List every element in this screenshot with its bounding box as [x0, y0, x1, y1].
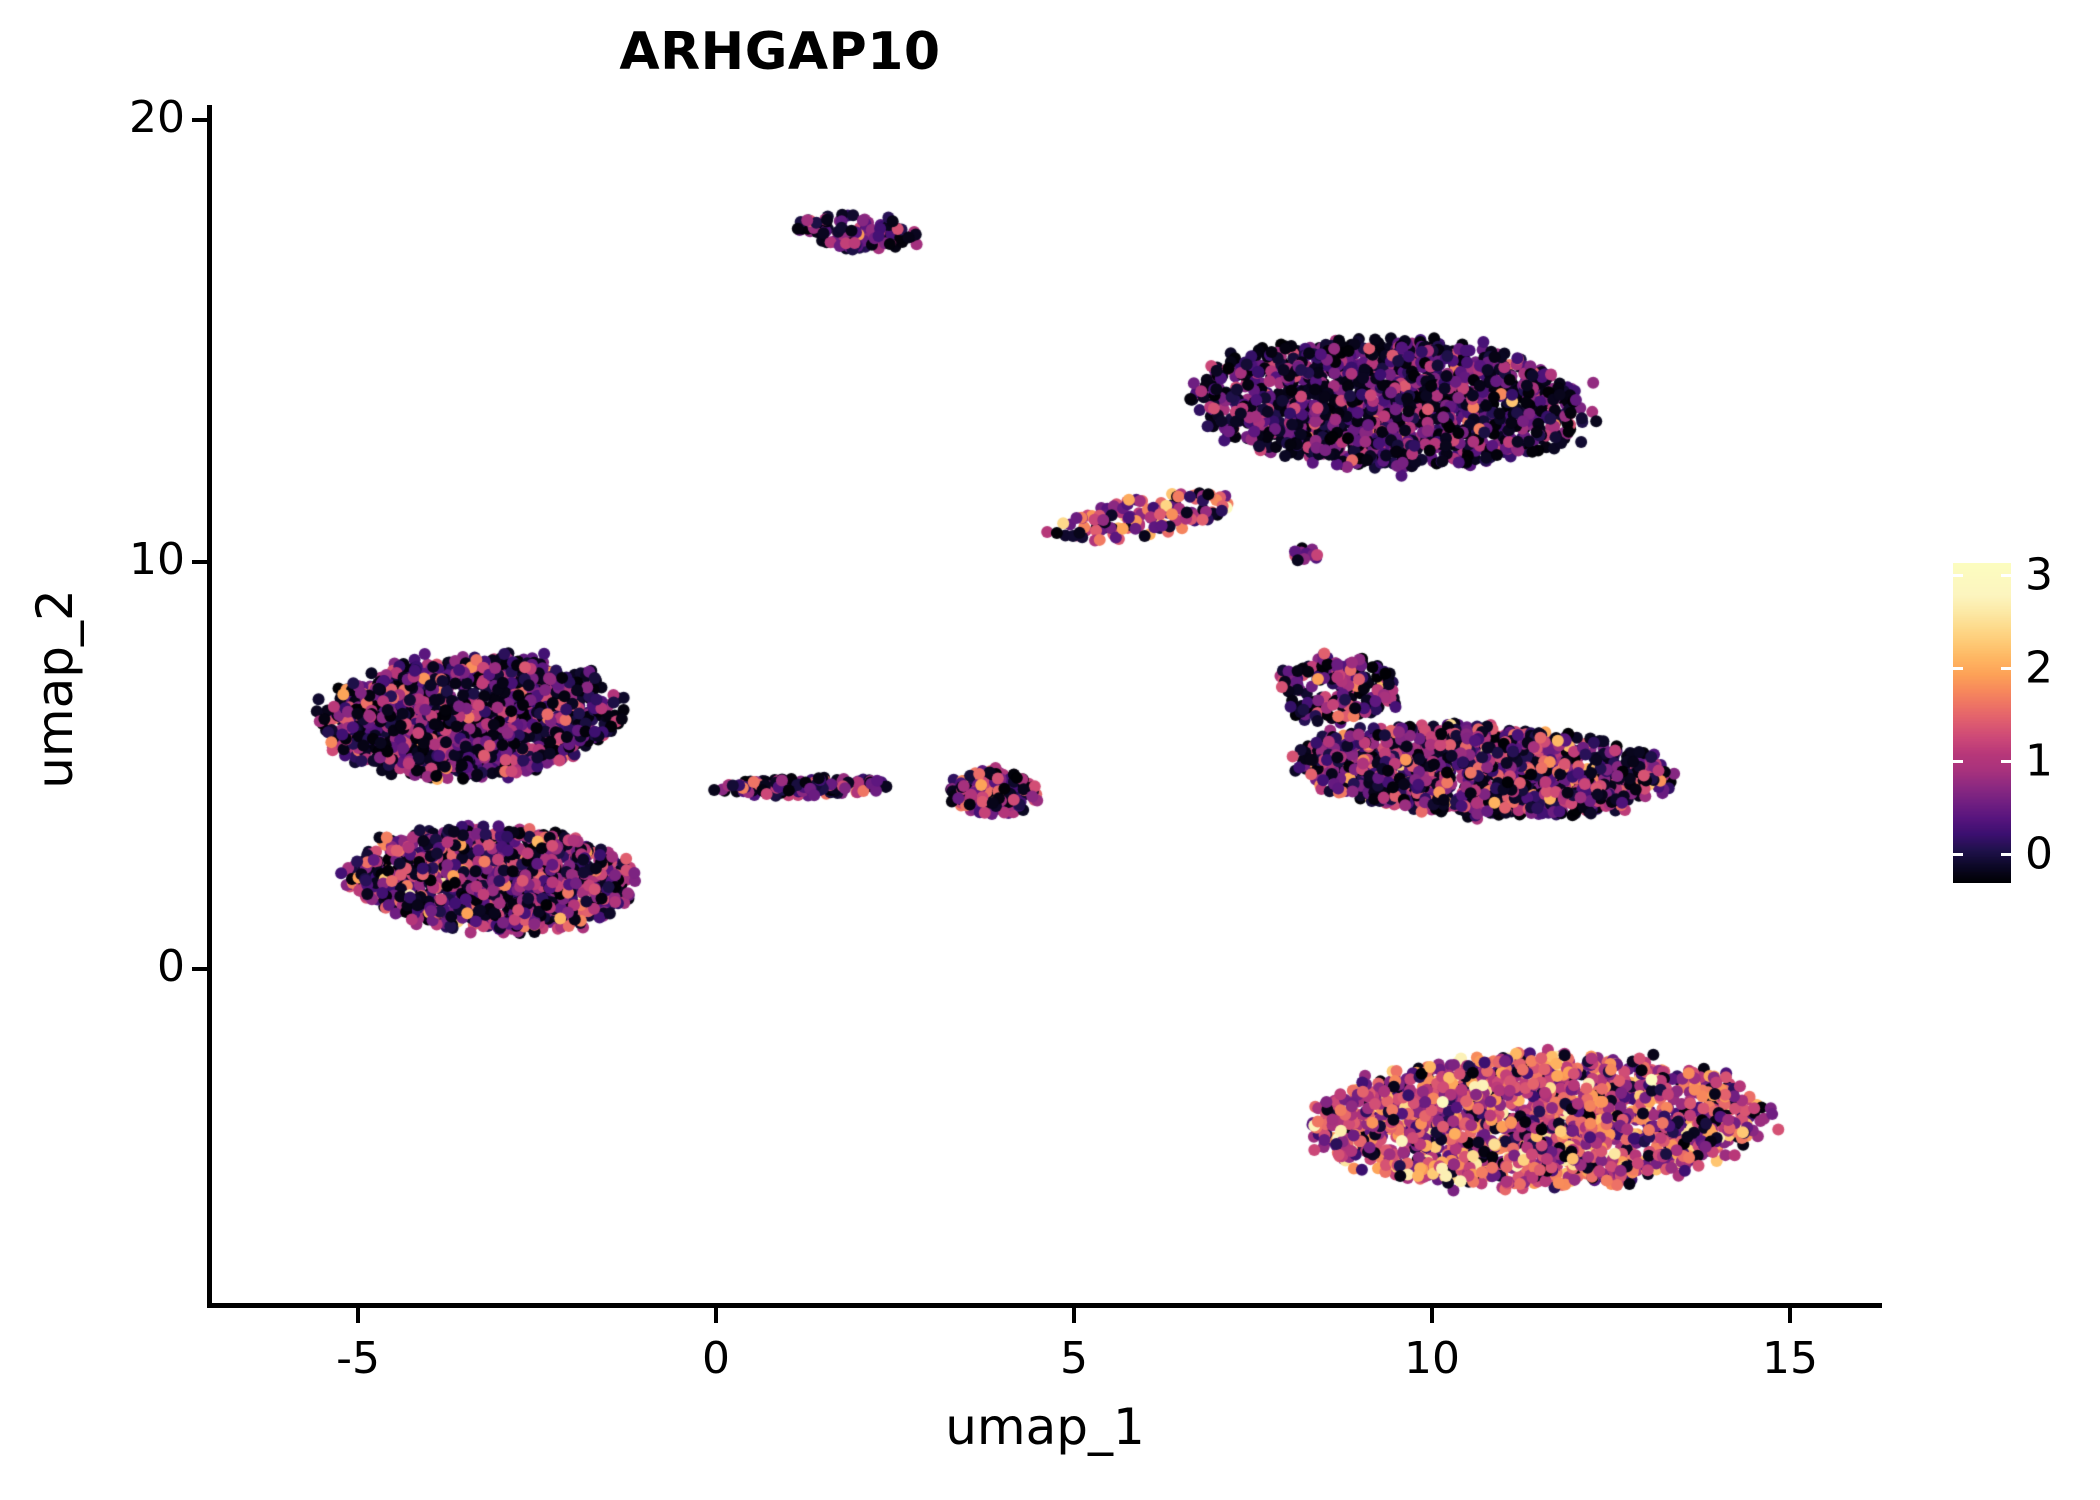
y-tick-label-10: 10	[129, 534, 185, 585]
colorbar-gradient	[1953, 563, 2011, 883]
x-axis-label: umap_1	[210, 1398, 1880, 1456]
x-tick-label-0: 0	[702, 1333, 730, 1384]
colorbar-tick-3-left	[1953, 574, 1963, 577]
colorbar-tick-2-right	[2001, 667, 2011, 670]
figure-canvas: ARHGAP10 20 10 0 -5 0 5 10 15 umap_1 uma…	[0, 0, 2100, 1500]
colorbar-tick-2-left	[1953, 667, 1963, 670]
x-tick-mark-10	[1430, 1307, 1434, 1323]
scatter-plot	[210, 105, 1880, 1305]
colorbar-tick-1-left	[1953, 760, 1963, 763]
y-axis-spine	[207, 105, 212, 1308]
x-tick-label-15: 15	[1762, 1333, 1818, 1384]
x-tick-mark-minus5	[356, 1307, 360, 1323]
x-tick-mark-0	[714, 1307, 718, 1323]
colorbar-label-2: 2	[2025, 643, 2053, 694]
x-tick-label-10: 10	[1404, 1333, 1460, 1384]
y-tick-mark-10	[192, 560, 208, 564]
colorbar-tick-0-right	[2001, 853, 2011, 856]
colorbar-tick-3-right	[2001, 574, 2011, 577]
y-tick-label-20: 20	[129, 92, 185, 143]
y-axis-label: umap_2	[26, 239, 84, 1139]
colorbar-tick-0-left	[1953, 853, 1963, 856]
y-tick-mark-20	[192, 118, 208, 122]
page-title: ARHGAP10	[0, 22, 1560, 82]
y-tick-label-0: 0	[157, 941, 185, 992]
colorbar-label-0: 0	[2025, 829, 2053, 880]
x-axis-spine	[207, 1303, 1882, 1308]
colorbar-label-1: 1	[2025, 736, 2053, 787]
x-tick-mark-5	[1072, 1307, 1076, 1323]
colorbar: 3 2 1 0	[1953, 563, 2011, 883]
colorbar-label-3: 3	[2025, 550, 2053, 601]
plot-area	[210, 105, 1880, 1305]
colorbar-tick-1-right	[2001, 760, 2011, 763]
x-tick-label-5: 5	[1060, 1333, 1088, 1384]
x-tick-label-minus5: -5	[336, 1333, 380, 1384]
y-tick-mark-0	[192, 967, 208, 971]
x-tick-mark-15	[1788, 1307, 1792, 1323]
